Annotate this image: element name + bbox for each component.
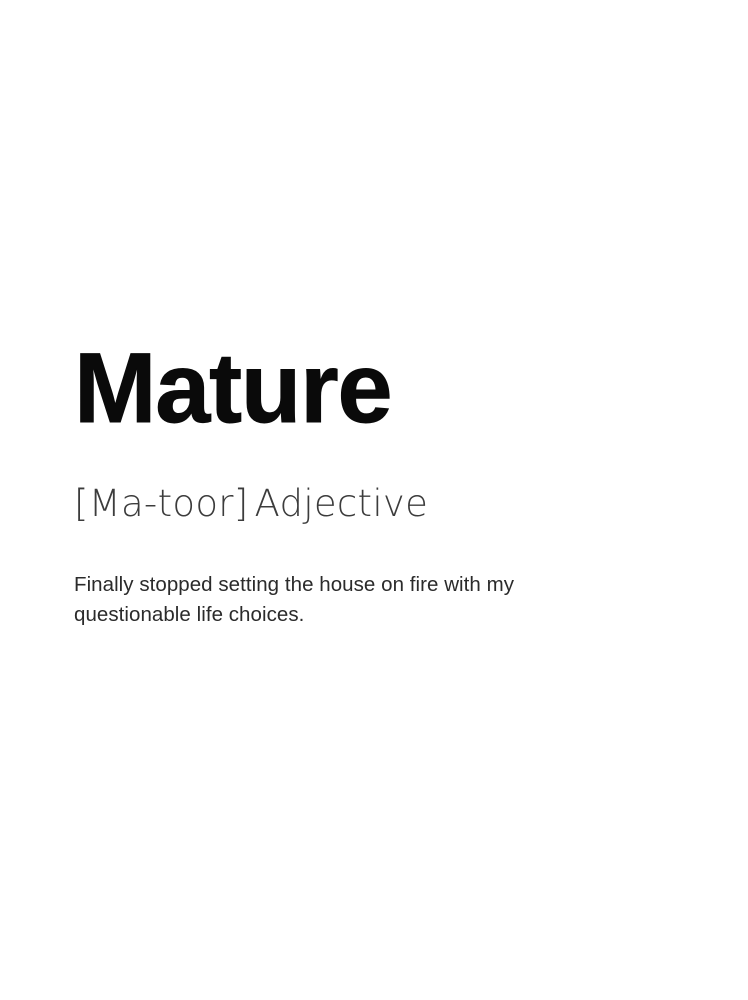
pronunciation-line: [Ma-toor]Adjective — [74, 485, 674, 522]
definition-block: Mature [Ma-toor]Adjective Finally stoppe… — [74, 338, 674, 630]
word-title: Mature — [74, 338, 674, 437]
spacer-title-pronunciation — [74, 437, 674, 485]
phonetic-spelling: [Ma-toor] — [74, 482, 249, 525]
spacer-pronunciation-definition — [74, 522, 674, 570]
definition-poster: Mature [Ma-toor]Adjective Finally stoppe… — [0, 0, 748, 1000]
definition-text: Finally stopped setting the house on fir… — [74, 570, 574, 630]
part-of-speech-label: Adjective — [255, 482, 429, 525]
